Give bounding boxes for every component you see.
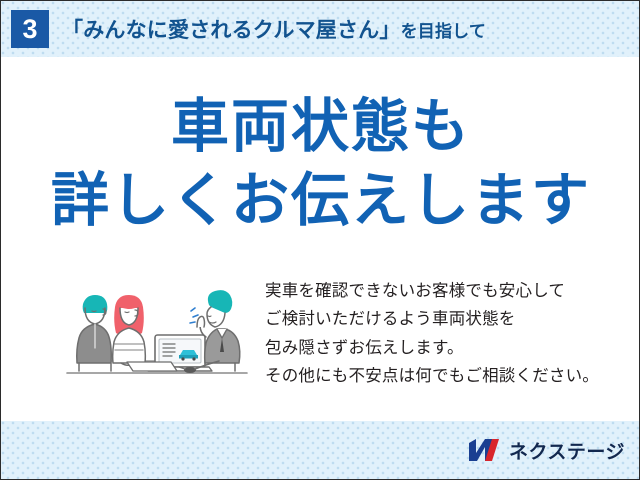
consultation-illustration	[59, 275, 255, 391]
nextage-n-logo-icon	[468, 437, 502, 463]
content-row: 実車を確認できないお客様でも安心して ご検討いただけるよう車両状態を 包み隠さず…	[1, 275, 640, 405]
description-line-4: その他にも不安点は何でもご相談ください。	[265, 362, 637, 390]
header-title-suffix: を目指して	[401, 17, 487, 42]
step-number-badge: 3	[11, 10, 49, 48]
description-line-3: 包み隠さずお伝えします。	[265, 334, 637, 362]
nextage-n-logo-svg	[468, 437, 502, 463]
description-text: 実車を確認できないお客様でも安心して ご検討いただけるよう車両状態を 包み隠さず…	[265, 277, 637, 391]
description-line-2: ご検討いただけるよう車両状態を	[265, 305, 637, 333]
advertisement-banner: 3 「みんなに愛されるクルマ屋さん」 を目指して 車両状態も 詳しくお伝えします	[0, 0, 640, 480]
headline-line-1: 車両状態も	[1, 93, 640, 161]
consultation-illustration-svg	[59, 275, 255, 391]
header-band: 3 「みんなに愛されるクルマ屋さん」 を目指して	[1, 1, 640, 57]
description-line-1: 実車を確認できないお客様でも安心して	[265, 277, 637, 305]
header-title: 「みんなに愛されるクルマ屋さん」 を目指して	[62, 14, 486, 44]
brand-name-text: ネクステージ	[509, 437, 625, 464]
headline-line-2: 詳しくお伝えします	[1, 167, 640, 235]
headline: 車両状態も 詳しくお伝えします	[1, 93, 640, 236]
header-title-main: 「みんなに愛されるクルマ屋さん」	[62, 14, 401, 44]
brand-logo: ネクステージ	[468, 421, 640, 479]
footer-band: ネクステージ	[1, 421, 640, 479]
main-content-area: 車両状態も 詳しくお伝えします	[1, 57, 640, 421]
header-content: 3 「みんなに愛されるクルマ屋さん」 を目指して	[1, 1, 640, 57]
